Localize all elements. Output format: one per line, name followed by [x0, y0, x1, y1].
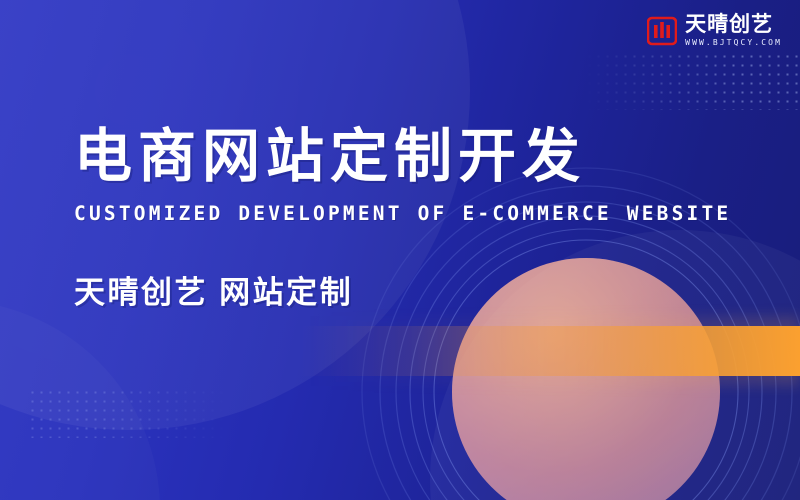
headline-chinese: 电商网站定制开发 [74, 126, 694, 189]
logo-website-url: WWW.BJTQCY.COM [685, 39, 782, 47]
logo-company-name: 天晴创艺 [685, 14, 782, 35]
headline-block: 电商网站定制开发 CUSTOMIZED DEVELOPMENT OF E-COM… [74, 126, 694, 312]
dot-grid-bottom-left [28, 388, 228, 438]
dot-grid-top-right [585, 52, 800, 110]
orange-band [300, 326, 800, 376]
tianqing-chuangyi-logo-mark [647, 16, 677, 46]
logo-text-block: 天晴创艺 WWW.BJTQCY.COM [685, 14, 782, 47]
orange-band-glow [300, 316, 800, 386]
promo-banner: 天晴创艺 WWW.BJTQCY.COM 电商网站定制开发 CUSTOMIZED … [0, 0, 800, 500]
tagline-chinese: 天晴创艺 网站定制 [74, 267, 694, 312]
subheadline-english: CUSTOMIZED DEVELOPMENT OF E-COMMERCE WEB… [74, 202, 694, 225]
decor-wedge-lower-left [0, 300, 160, 500]
brand-logo[interactable]: 天晴创艺 WWW.BJTQCY.COM [647, 14, 782, 47]
